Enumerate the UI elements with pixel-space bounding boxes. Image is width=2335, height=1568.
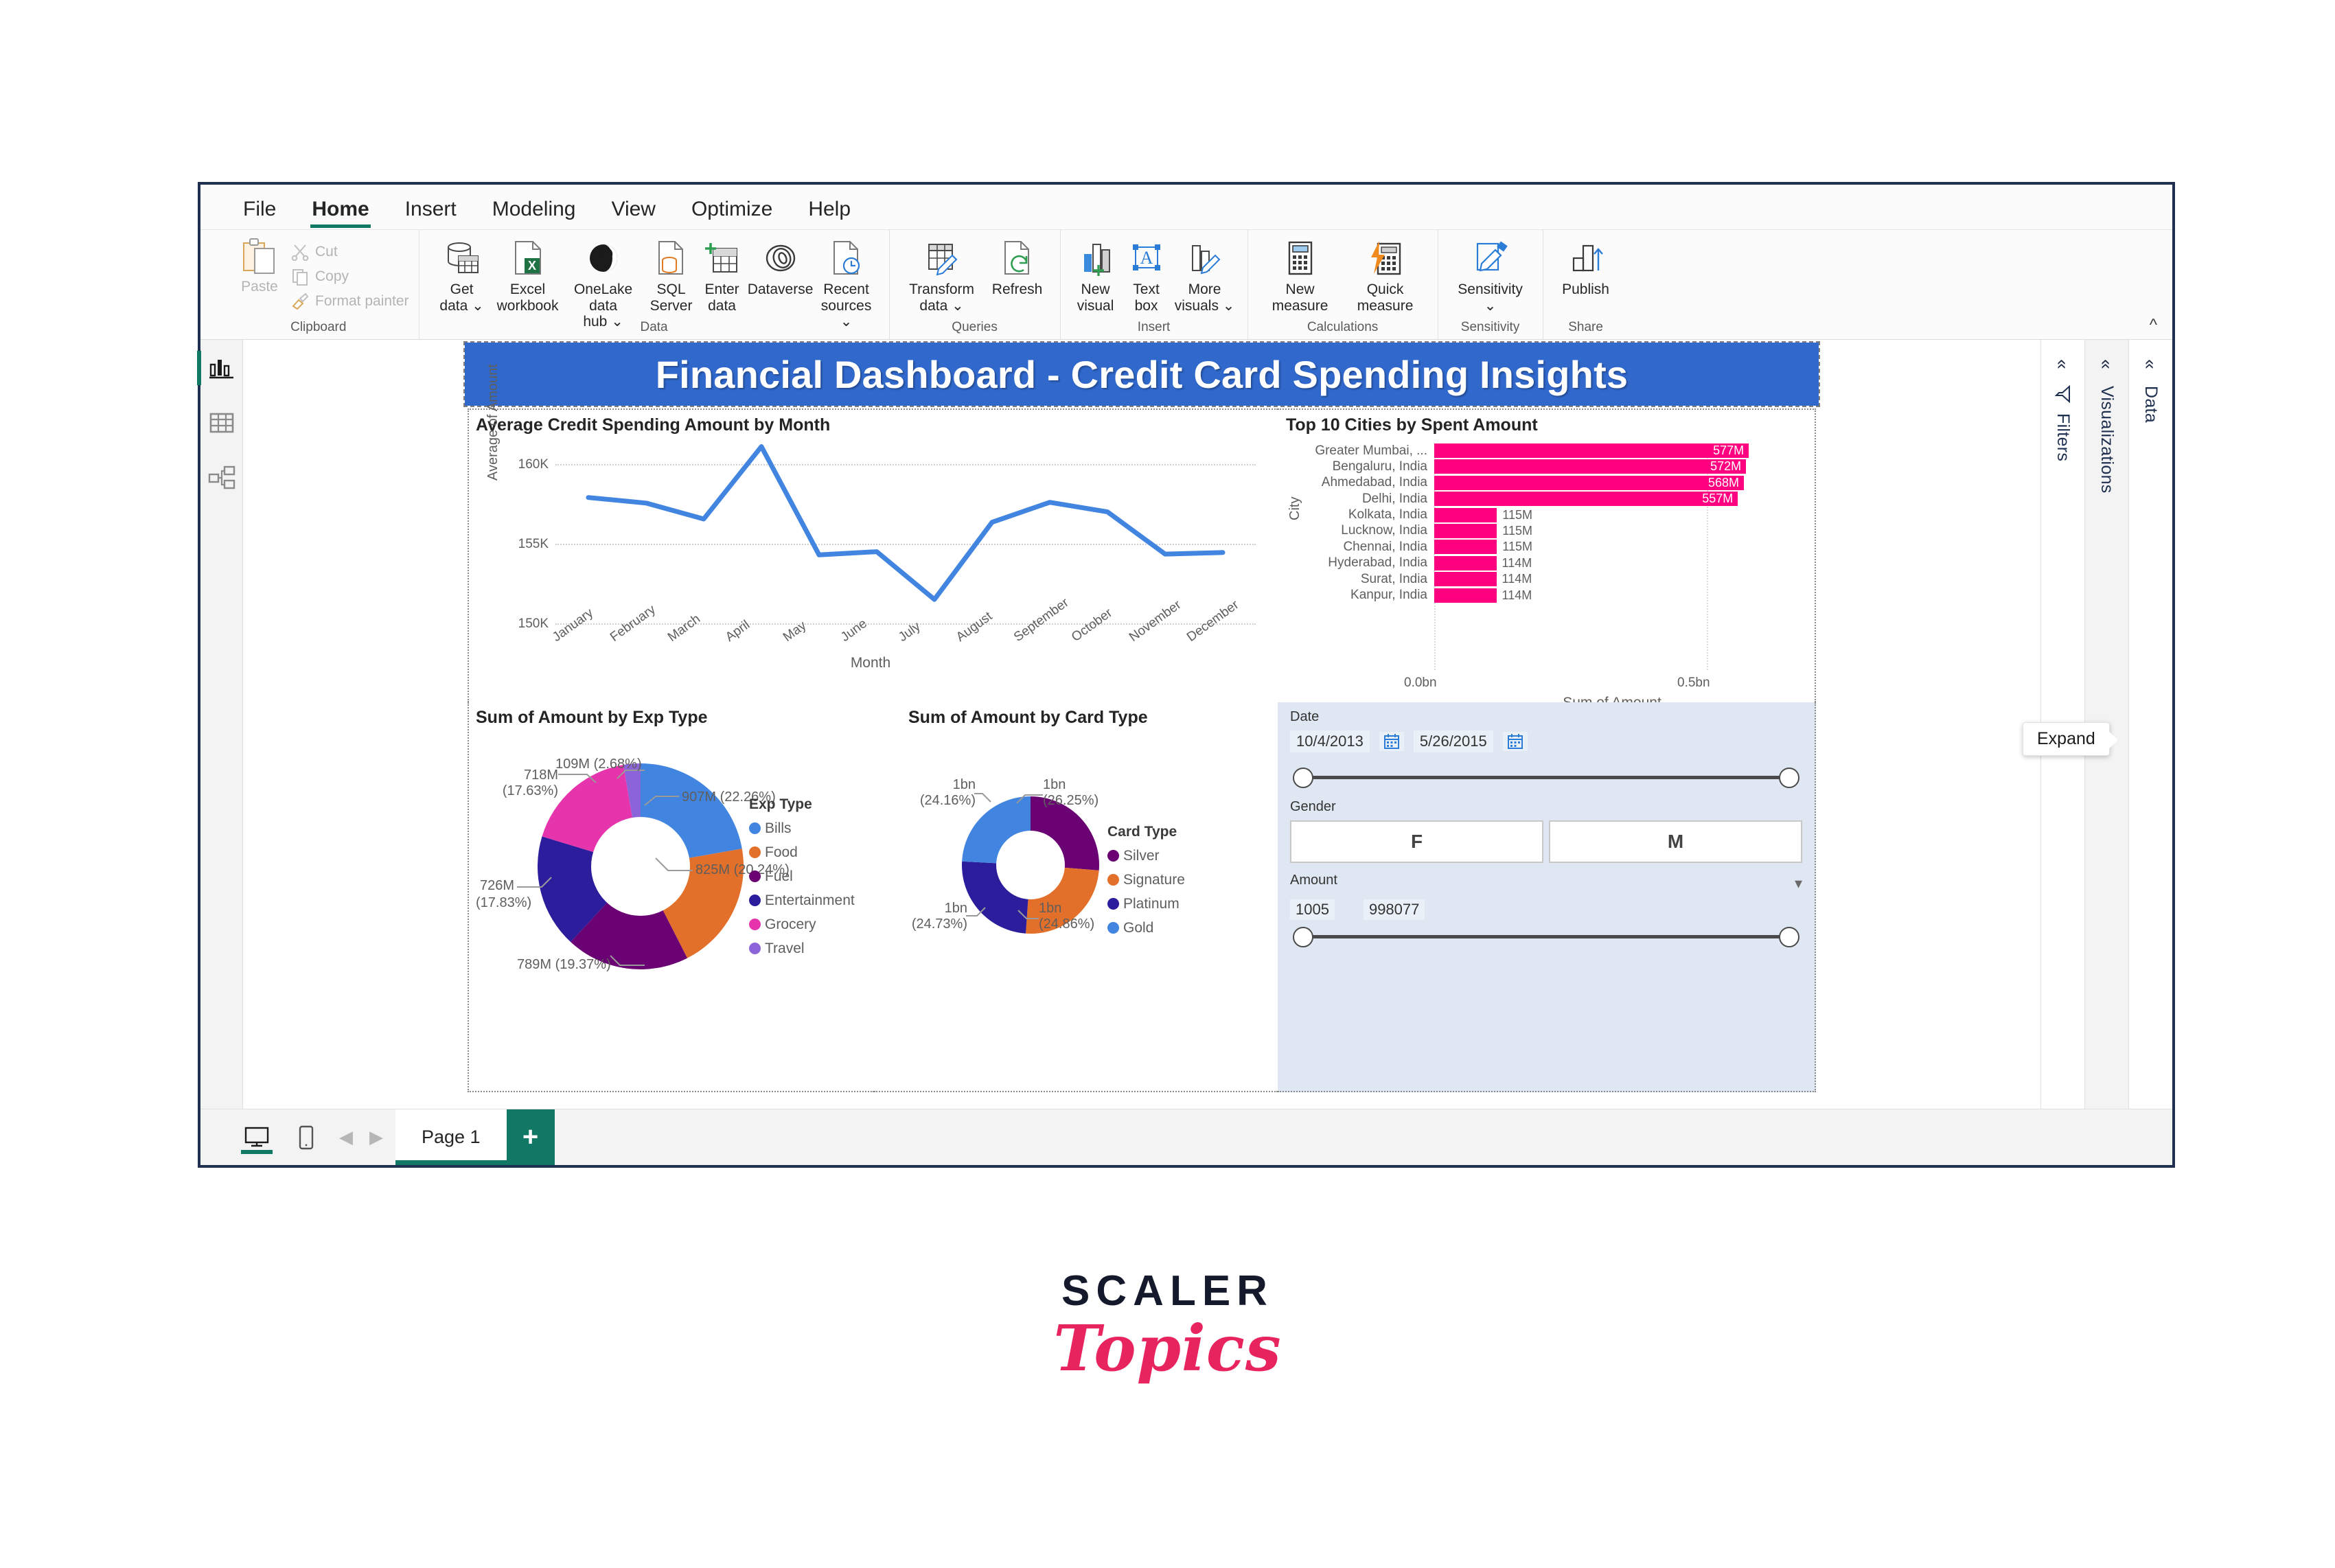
bar-chart-row[interactable]: Greater Mumbai, ...577M	[1304, 443, 1815, 458]
legend-color-swatch	[749, 943, 761, 954]
visual-donut-exp-type[interactable]: Sum of Amount by Exp Type	[468, 702, 874, 1092]
visual-line-chart[interactable]: Average Credit Spending Amount by Month …	[468, 408, 1278, 702]
enter-data-label: Enter data	[704, 281, 739, 314]
legend-items-card-type: SilverSignaturePlatinumGold	[1107, 844, 1185, 940]
report-canvas-scroll: Financial Dashboard - Credit Card Spendi…	[243, 340, 2040, 1109]
legend-label: Fuel	[765, 868, 793, 885]
donut-exp-type-title: Sum of Amount by Exp Type	[476, 708, 874, 728]
work-area: Financial Dashboard - Credit Card Spendi…	[200, 340, 2172, 1109]
report-canvas: Financial Dashboard - Credit Card Spendi…	[465, 343, 1819, 1095]
ribbon-tab-modeling[interactable]: Modeling	[474, 198, 594, 229]
legend-color-swatch	[749, 846, 761, 858]
excel-workbook-button[interactable]: X Excel workbook	[495, 234, 561, 314]
more-visuals-button[interactable]: More visuals ⌄	[1172, 234, 1238, 314]
publish-button[interactable]: Publish	[1553, 234, 1619, 298]
database-table-icon	[444, 237, 481, 279]
text-box-label: Text box	[1133, 281, 1160, 314]
bar-xtick-0: 0.0bn	[1404, 676, 1437, 691]
refresh-label: Refresh	[992, 281, 1043, 298]
bar-track: 572M	[1434, 459, 1815, 474]
ribbon-tab-view[interactable]: View	[593, 198, 673, 229]
line-chart-plot: Average of Amount 160K 155K 150K January…	[476, 442, 1265, 669]
enter-data-icon	[704, 237, 741, 279]
new-visual-button[interactable]: New visual	[1070, 234, 1121, 314]
bar-value-label: 115M	[1497, 540, 1532, 554]
add-page-button[interactable]: +	[507, 1109, 555, 1165]
date-end-input[interactable]: 5/26/2015	[1414, 730, 1493, 752]
date-end-calendar-button[interactable]	[1503, 732, 1528, 751]
bar-track: 115M	[1434, 524, 1815, 538]
bar-chart-x-axis: 0.0bn 0.5bn	[1434, 676, 1805, 693]
more-visuals-icon	[1186, 237, 1223, 279]
bar-chart-row[interactable]: Hyderabad, India114M	[1304, 556, 1815, 570]
expand-visualizations-chevron-icon[interactable]: «	[2096, 359, 2117, 369]
sql-server-label: SQL Server	[650, 281, 693, 314]
sensitivity-button[interactable]: Sensitivity ⌄	[1448, 234, 1533, 314]
onelake-data-hub-button[interactable]: OneLake data hub ⌄	[561, 234, 646, 330]
bar-track: 577M	[1434, 443, 1815, 458]
dataverse-label: Dataverse	[748, 281, 814, 298]
ribbon-group-sensitivity: Sensitivity ⌄ Sensitivity	[1438, 230, 1543, 339]
recent-sources-button[interactable]: Recent sources ⌄	[814, 234, 879, 330]
ribbon-group-label-calculations: Calculations	[1307, 320, 1379, 336]
date-start-input[interactable]: 10/4/2013	[1290, 730, 1370, 752]
bar-fill[interactable]: 557M	[1434, 492, 1738, 506]
amount-range-knob-right[interactable]	[1779, 927, 1799, 947]
publish-label: Publish	[1562, 281, 1609, 298]
bar-fill[interactable]	[1434, 540, 1497, 554]
svg-text:X: X	[528, 259, 536, 273]
bar-chart-row[interactable]: Ahmedabad, India568M	[1304, 476, 1815, 490]
pane-visualizations-label: Visualizations	[2097, 386, 2117, 494]
ribbon-tab-insert[interactable]: Insert	[387, 198, 474, 229]
legend-item[interactable]: Entertainment	[749, 888, 855, 912]
cut-label: Cut	[315, 244, 338, 260]
bar-category-label: Kolkata, India	[1304, 507, 1434, 522]
transform-data-icon	[923, 237, 961, 279]
bar-value-label: 114M	[1497, 572, 1532, 586]
legend-label: Signature	[1123, 872, 1185, 888]
bar-fill[interactable]	[1434, 572, 1497, 586]
bar-category-label: Surat, India	[1304, 572, 1434, 587]
donut-card-label-platinum: 1bn (24.73%)	[908, 901, 967, 932]
legend-color-swatch	[1107, 898, 1119, 910]
onelake-icon	[585, 237, 622, 279]
ribbon-group-label-share: Share	[1568, 320, 1603, 336]
legend-item[interactable]: Gold	[1107, 916, 1185, 940]
sensitivity-label: Sensitivity ⌄	[1458, 281, 1523, 314]
ribbon-group-label-sensitivity: Sensitivity	[1461, 320, 1520, 336]
visual-slicer-panel[interactable]: Date 10/4/2013 5/26	[1278, 702, 1816, 1092]
new-visual-icon	[1077, 237, 1114, 279]
expand-data-chevron-icon[interactable]: «	[2140, 359, 2161, 369]
donut-card-type-legend: Card Type SilverSignaturePlatinumGold	[1107, 824, 1185, 940]
bar-chart-row[interactable]: Delhi, India557M	[1304, 492, 1815, 506]
filter-icon	[2055, 385, 2071, 403]
bar-value-label: 115M	[1497, 508, 1532, 522]
bar-chart-row[interactable]: Lucknow, India115M	[1304, 524, 1815, 538]
bar-track: 557M	[1434, 492, 1815, 506]
legend-color-swatch	[1107, 874, 1119, 886]
dashboard-title-banner[interactable]: Financial Dashboard - Credit Card Spendi…	[465, 343, 1819, 406]
date-range-slider[interactable]	[1293, 763, 1799, 792]
bar-category-label: Lucknow, India	[1304, 523, 1434, 538]
dashboard-title: Financial Dashboard - Credit Card Spendi…	[656, 352, 1629, 397]
logo-scaler-wordmark: SCALER	[1061, 1267, 1274, 1315]
table-grid-icon	[209, 411, 235, 435]
ribbon-group-data: Get data ⌄ X Excel workbook	[419, 230, 890, 339]
prev-page-button[interactable]: ◀	[331, 1109, 361, 1165]
ribbon-group-label-insert: Insert	[1138, 320, 1171, 336]
scaler-topics-logo: SCALER Topics	[0, 1267, 2335, 1385]
bar-track: 114M	[1434, 588, 1815, 603]
paintbrush-icon	[291, 292, 309, 310]
bar-fill[interactable]: 572M	[1434, 459, 1746, 474]
get-data-button[interactable]: Get data ⌄	[429, 234, 495, 314]
paste-icon	[241, 234, 278, 277]
bar-chart-y-axis-label: City	[1287, 497, 1303, 520]
legend-label: Food	[765, 844, 798, 861]
bar-chart-plot: City Greater Mumbai, ...577MBengaluru, I…	[1286, 443, 1815, 670]
donut-exp-type-legend: Exp Type BillsFoodFuelEntertainmentGroce…	[749, 796, 855, 960]
legend-item[interactable]: Travel	[749, 936, 855, 960]
quick-measure-button[interactable]: Quick measure	[1343, 234, 1428, 314]
amount-min-input[interactable]: 1005	[1290, 899, 1335, 920]
bar-track: 114M	[1434, 572, 1815, 586]
legend-label: Silver	[1123, 848, 1160, 864]
excel-workbook-label: Excel workbook	[497, 281, 559, 314]
view-rail	[200, 340, 243, 1109]
slicer-amount-label: Amount	[1290, 873, 1337, 888]
refresh-button[interactable]: Refresh	[985, 234, 1050, 298]
quick-measure-label: Quick measure	[1357, 281, 1414, 314]
amount-chevron-down-icon[interactable]: ▾	[1795, 875, 1802, 892]
transform-data-label: Transform data ⌄	[909, 281, 974, 314]
format-painter-button[interactable]: Format painter	[291, 289, 409, 314]
text-box-button[interactable]: A Text box	[1121, 234, 1172, 314]
slicer-date-label: Date	[1290, 709, 1802, 725]
bar-chart-row[interactable]: Surat, India114M	[1304, 572, 1815, 586]
pane-data-label: Data	[2141, 386, 2161, 423]
bar-value-label: 572M	[1710, 459, 1746, 474]
desktop-monitor-icon	[243, 1126, 271, 1149]
mobile-layout-button[interactable]	[281, 1109, 331, 1165]
line-chart-title: Average Credit Spending Amount by Month	[476, 415, 1278, 435]
bar-chart-title: Top 10 Cities by Spent Amount	[1286, 415, 1815, 435]
bar-chart-rows: Greater Mumbai, ...577MBengaluru, India5…	[1286, 443, 1815, 603]
legend-color-swatch	[749, 822, 761, 834]
slicer-date[interactable]: Date 10/4/2013 5/26	[1290, 709, 1802, 792]
ribbon-group-share: Publish Share	[1543, 230, 1629, 339]
legend-color-swatch	[749, 919, 761, 930]
donut-card-type-title: Sum of Amount by Card Type	[908, 708, 1278, 728]
legend-color-swatch	[1107, 922, 1119, 934]
donut-card-label-gold: 1bn (24.16%)	[915, 777, 976, 809]
copy-button[interactable]: Copy	[291, 264, 409, 289]
bar-track: 114M	[1434, 556, 1815, 570]
bar-category-label: Greater Mumbai, ...	[1304, 443, 1434, 459]
bar-value-label: 115M	[1497, 524, 1532, 538]
dataverse-icon	[762, 237, 799, 279]
legend-item[interactable]: Signature	[1107, 868, 1185, 892]
legend-label: Grocery	[765, 916, 816, 933]
bar-value-label: 577M	[1713, 443, 1749, 458]
ribbon-tab-strip: File Home Insert Modeling View Optimize …	[200, 185, 2172, 230]
amount-range-track	[1302, 935, 1790, 938]
legend-title-exp-type: Exp Type	[749, 796, 855, 813]
more-visuals-label: More visuals ⌄	[1175, 281, 1235, 314]
ribbon-body: Paste Cut	[200, 230, 2172, 340]
slicer-gender[interactable]: Gender F M	[1290, 799, 1802, 863]
svg-text:A: A	[1140, 248, 1153, 268]
legend-label: Gold	[1123, 920, 1153, 936]
recent-sources-icon	[829, 237, 864, 279]
power-bi-window: File Home Insert Modeling View Optimize …	[198, 182, 2175, 1168]
ribbon-group-label-data: Data	[640, 320, 667, 336]
format-painter-label: Format painter	[315, 293, 409, 310]
copy-icon	[291, 268, 309, 286]
excel-file-icon: X	[511, 237, 545, 279]
status-bar: ◀ ▶ Page 1 +	[200, 1109, 2172, 1165]
ribbon-tab-home[interactable]: Home	[294, 198, 387, 229]
cut-button[interactable]: Cut	[291, 240, 409, 264]
bar-fill[interactable]	[1434, 508, 1497, 522]
visual-donut-card-type[interactable]: Sum of Amount by Card Type 1bn (	[874, 702, 1278, 1092]
bar-value-label: 114M	[1497, 556, 1532, 570]
bar-track: 115M	[1434, 540, 1815, 554]
ribbon-tab-file[interactable]: File	[225, 198, 294, 229]
legend-color-swatch	[749, 871, 761, 882]
next-page-button[interactable]: ▶	[361, 1109, 391, 1165]
legend-item[interactable]: Grocery	[749, 912, 855, 936]
report-bars-icon	[209, 356, 235, 380]
paste-button[interactable]: Paste	[228, 234, 291, 295]
rail-table-view[interactable]	[203, 404, 240, 441]
bar-category-label: Kanpur, India	[1304, 588, 1434, 603]
ribbon-group-calculations: New measure	[1248, 230, 1438, 339]
visual-bar-chart[interactable]: Top 10 Cities by Spent Amount City Great…	[1278, 408, 1816, 702]
page-tab-page-1[interactable]: Page 1	[395, 1109, 507, 1165]
collapse-ribbon-chevron-icon[interactable]: ^	[2150, 316, 2157, 335]
ribbon-group-queries: Transform data ⌄ Refresh Queries	[890, 230, 1061, 339]
sql-server-button[interactable]: SQL Server	[646, 234, 697, 314]
bar-chart-row[interactable]: Kolkata, India115M	[1304, 508, 1815, 522]
donut-exp-label-grocery: 718M (17.63%)	[476, 768, 558, 799]
line-chart-y-axis-label: Average of Amount	[485, 364, 501, 481]
ribbon-tab-optimize[interactable]: Optimize	[674, 198, 790, 229]
bar-category-label: Chennai, India	[1304, 540, 1434, 555]
date-start-calendar-button[interactable]	[1379, 732, 1404, 751]
line-chart-series	[555, 442, 1256, 641]
ribbon-group-label-clipboard: Clipboard	[290, 320, 346, 336]
legend-item[interactable]: Bills	[749, 816, 855, 840]
new-measure-label: New measure	[1272, 281, 1328, 314]
bar-track: 568M	[1434, 476, 1815, 490]
ribbon-group-clipboard: Paste Cut	[218, 230, 419, 339]
bar-chart-row[interactable]: Bengaluru, India572M	[1304, 459, 1815, 474]
rail-model-view[interactable]	[203, 459, 240, 496]
legend-item[interactable]: Platinum	[1107, 892, 1185, 916]
model-relationships-icon	[208, 465, 235, 490]
legend-item[interactable]: Food	[749, 840, 855, 864]
legend-label: Bills	[765, 820, 792, 837]
bar-value-label: 568M	[1708, 476, 1744, 490]
bar-fill[interactable]	[1434, 524, 1497, 538]
refresh-icon	[1000, 237, 1035, 279]
line-chart-x-axis-label: Month	[476, 655, 1265, 671]
amount-range-knob-left[interactable]	[1293, 927, 1313, 947]
donut-exp-label-fuel: 789M (19.37%)	[517, 957, 611, 973]
new-measure-button[interactable]: New measure	[1258, 234, 1343, 314]
sql-server-icon	[654, 237, 689, 279]
ribbon-tab-help[interactable]: Help	[790, 198, 869, 229]
slicer-amount[interactable]: Amount ▾ 1005 998077	[1290, 873, 1802, 952]
bar-category-label: Bengaluru, India	[1304, 459, 1434, 474]
legend-item[interactable]: Silver	[1107, 844, 1185, 868]
copy-label: Copy	[315, 268, 349, 285]
gender-option-m[interactable]: M	[1549, 820, 1802, 863]
legend-label: Platinum	[1123, 896, 1180, 912]
calculator-icon	[1285, 237, 1316, 279]
line-ytick-155k: 155K	[501, 537, 549, 552]
bar-category-label: Delhi, India	[1304, 492, 1434, 507]
date-range-knob-left[interactable]	[1293, 768, 1313, 788]
donut-exp-label-entertainment: 726M (17.83%)	[476, 877, 514, 912]
donut-exp-type-body: 109M (2.68%) 907M (22.26%) 718M (17.63%)…	[476, 728, 874, 1071]
dataverse-button[interactable]: Dataverse	[748, 234, 814, 298]
transform-data-button[interactable]: Transform data ⌄	[899, 234, 985, 314]
bar-chart-row[interactable]: Chennai, India115M	[1304, 540, 1815, 554]
date-range-knob-right[interactable]	[1779, 768, 1799, 788]
bar-value-label: 114M	[1497, 588, 1532, 603]
bar-chart-row[interactable]: Kanpur, India114M	[1304, 588, 1815, 603]
new-visual-label: New visual	[1077, 281, 1114, 314]
get-data-label: Get data ⌄	[439, 281, 483, 314]
expand-tooltip: Expand	[2023, 722, 2110, 756]
bar-fill[interactable]: 577M	[1434, 443, 1749, 458]
rail-report-view[interactable]	[203, 349, 240, 387]
paste-label: Paste	[241, 279, 278, 295]
legend-label: Entertainment	[765, 892, 855, 909]
gender-option-f[interactable]: F	[1290, 820, 1543, 863]
amount-max-input[interactable]: 998077	[1364, 899, 1425, 920]
mobile-phone-icon	[297, 1125, 315, 1150]
desktop-layout-button[interactable]	[232, 1109, 281, 1165]
pane-data[interactable]: « Data	[2128, 340, 2172, 1109]
slicer-gender-label: Gender	[1290, 799, 1802, 815]
scissors-icon	[291, 243, 309, 261]
legend-color-swatch	[1107, 850, 1119, 862]
enter-data-button[interactable]: Enter data	[697, 234, 748, 314]
expand-filters-chevron-icon[interactable]: «	[2052, 359, 2073, 369]
calendar-icon	[1507, 733, 1523, 750]
publish-icon	[1568, 237, 1604, 279]
legend-color-swatch	[749, 895, 761, 906]
ribbon-group-label-queries: Queries	[952, 320, 998, 336]
line-ytick-150k: 150K	[501, 616, 549, 632]
bar-fill[interactable]: 568M	[1434, 476, 1744, 490]
amount-range-slider[interactable]	[1293, 923, 1799, 952]
date-range-track	[1302, 776, 1790, 779]
logo-topics-wordmark: Topics	[1053, 1311, 1281, 1385]
calendar-icon	[1383, 733, 1400, 750]
line-ytick-160k: 160K	[501, 457, 549, 472]
bar-category-label: Hyderabad, India	[1304, 555, 1434, 570]
bar-category-label: Ahmedabad, India	[1304, 475, 1434, 490]
legend-items-exp-type: BillsFoodFuelEntertainmentGroceryTravel	[749, 816, 855, 960]
donut-card-label-signature: 1bn (24.86%)	[1039, 901, 1094, 932]
bar-track: 115M	[1434, 508, 1815, 522]
pane-filters-label: Filters	[2053, 413, 2073, 461]
recent-sources-label: Recent sources ⌄	[815, 281, 878, 330]
legend-label: Travel	[765, 941, 805, 957]
bar-value-label: 557M	[1702, 492, 1738, 506]
ribbon-group-insert: New visual A Text box	[1061, 230, 1248, 339]
donut-card-type-body: 1bn (26.25%) 1bn (24.16%) 1bn (24.73%) 1…	[908, 728, 1278, 1071]
legend-item[interactable]: Fuel	[749, 864, 855, 888]
bar-xtick-1: 0.5bn	[1677, 676, 1710, 691]
sensitivity-icon	[1472, 237, 1509, 279]
text-box-icon: A	[1129, 237, 1164, 279]
donut-card-label-silver: 1bn (26.25%)	[1043, 777, 1099, 809]
quick-calculator-icon	[1367, 237, 1404, 279]
legend-title-card-type: Card Type	[1107, 824, 1185, 840]
bar-fill[interactable]	[1434, 556, 1497, 570]
donut-exp-label-travel: 109M (2.68%)	[555, 757, 642, 772]
bar-fill[interactable]	[1434, 588, 1497, 603]
onelake-data-hub-label: OneLake data hub ⌄	[562, 281, 645, 330]
